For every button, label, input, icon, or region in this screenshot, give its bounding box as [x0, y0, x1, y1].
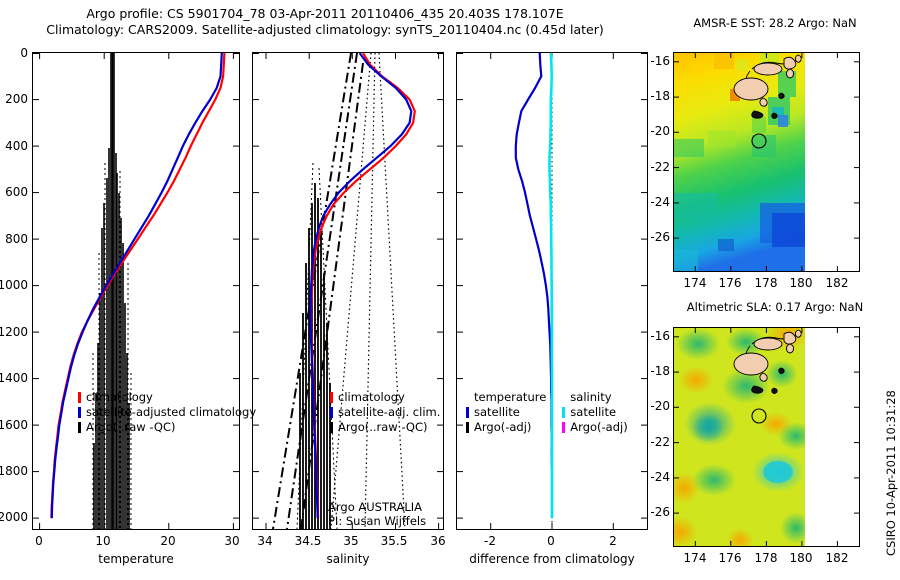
legend-label-climatology: climatology [86, 390, 153, 405]
salinity-plot-area [253, 53, 443, 529]
temperature-panel[interactable] [32, 52, 240, 530]
sla-map-xtick-174: 174 [675, 551, 715, 565]
legend-swatch-climatology [78, 392, 81, 403]
temperature-ytick-400: 400 [0, 139, 28, 153]
legend-item-argo-raw: Argo(..raw -QC) [78, 420, 256, 435]
salinity-xtick-34: 34 [245, 534, 285, 548]
salinity-xtick-35: 35 [331, 534, 371, 548]
temperature-ytick-200: 200 [0, 92, 28, 106]
salinity-panel[interactable] [252, 52, 444, 530]
sst-map-xtick-176: 176 [710, 276, 750, 290]
difference-legend-temperature-group: temperature satellite Argo(-adj) [466, 390, 546, 435]
legend-label-temperature: temperature [474, 390, 546, 405]
temperature-ytick-1600: 1600 [0, 418, 28, 432]
legend-item-salinity-satellite-adj: satellite-adj. clim. [330, 405, 440, 420]
salinity-difference-curve [550, 53, 553, 518]
salinity-xtick-34-5: 34.5 [288, 534, 328, 548]
legend-swatch-salinity-argo-adj [562, 422, 565, 433]
legend-label-satellite-adjusted: satellite-adjusted climatology [86, 405, 256, 420]
difference-plot-area [457, 53, 647, 529]
sst-map-title: AMSR-E SST: 28.2 Argo: NaN [665, 16, 885, 30]
figure-title-line1: Argo profile: CS 5901704_78 03-Apr-2011 … [0, 6, 650, 22]
legend-label-salinity-climatology: climatology [338, 390, 405, 405]
sla-map-title: Altimetric SLA: 0.17 Argo: NaN [665, 300, 885, 314]
difference-legend: temperature satellite Argo(-adj) salinit… [466, 390, 644, 435]
sla-map-xtick-182: 182 [817, 551, 857, 565]
legend-swatch-temperature-satellite [466, 407, 469, 418]
difference-xtick-2: 2 [593, 534, 633, 548]
temperature-ytick-1400: 1400 [0, 371, 28, 385]
salinity-axis-label: salinity [278, 552, 418, 566]
temperature-xtick-0: 0 [19, 534, 59, 548]
legend-swatch-salinity-climatology [330, 392, 333, 403]
sst-map-xtick-174: 174 [675, 276, 715, 290]
sla-map-plot-area [674, 328, 859, 546]
sla-map-ytick--26: -26 [638, 505, 670, 519]
temperature-ytick-1000: 1000 [0, 278, 28, 292]
legend-item-satellite-adjusted: satellite-adjusted climatology [78, 405, 256, 420]
temperature-axis-label: temperature [66, 552, 206, 566]
sla-map-xtick-180: 180 [781, 551, 821, 565]
temperature-legend: climatology satellite-adjusted climatolo… [78, 390, 256, 435]
sla-map-xtick-176: 176 [710, 551, 750, 565]
legend-header-temperature: temperature [466, 390, 546, 405]
csiro-timestamp: CSIRO 10-Apr-2011 10:31:28 [884, 390, 898, 556]
sst-map-xtick-182: 182 [817, 276, 857, 290]
sst-map-xtick-180: 180 [781, 276, 821, 290]
provider-line2: PI: Susan Wijffels [328, 514, 426, 528]
legend-header-salinity: salinity [562, 390, 627, 405]
sst-map-ytick--22: -22 [638, 160, 670, 174]
figure-title: Argo profile: CS 5901704_78 03-Apr-2011 … [0, 6, 650, 38]
sst-map-ytick--26: -26 [638, 230, 670, 244]
legend-item-salinity-satellite: satellite [562, 405, 627, 420]
legend-label-salinity-satellite-adj: satellite-adj. clim. [338, 405, 440, 420]
legend-label-temperature-satellite: satellite [474, 405, 520, 420]
provider-line1: Argo AUSTRALIA [328, 500, 426, 514]
sst-map-ytick--24: -24 [638, 195, 670, 209]
sst-map-panel[interactable] [673, 52, 860, 272]
sst-map-xtick-178: 178 [746, 276, 786, 290]
temperature-ytick-800: 800 [0, 232, 28, 246]
temperature-plot-area [33, 53, 239, 529]
legend-label-argo-raw: Argo(..raw -QC) [86, 420, 176, 435]
sla-map-panel[interactable] [673, 327, 860, 547]
difference-axis-label: difference from climatology [462, 552, 642, 566]
sla-map-ytick--18: -18 [638, 364, 670, 378]
temperature-ytick-600: 600 [0, 185, 28, 199]
temperature-ytick-1800: 1800 [0, 464, 28, 478]
temperature-ytick-2000: 2000 [0, 510, 28, 524]
salinity-xtick-36: 36 [418, 534, 458, 548]
legend-swatch-salinity-satellite-adj [330, 407, 333, 418]
temperature-climatology-curve [51, 53, 224, 518]
legend-swatch-argo-raw [78, 422, 81, 433]
legend-item-temperature-satellite: satellite [466, 405, 546, 420]
legend-swatch-salinity-satellite [562, 407, 565, 418]
sst-map-ytick--20: -20 [638, 124, 670, 138]
salinity-satellite-adjusted-curve [311, 53, 412, 518]
legend-label-salinity: salinity [570, 390, 611, 405]
temperature-difference-curve [516, 53, 552, 518]
argo-raw-qc-salinity-traces [273, 53, 405, 529]
difference-xtick-0: 0 [531, 534, 571, 548]
temperature-ytick-1200: 1200 [0, 325, 28, 339]
difference-xtick-neg2: -2 [470, 534, 510, 548]
temperature-xtick-20: 20 [148, 534, 188, 548]
salinity-xtick-35-5: 35.5 [374, 534, 414, 548]
sla-map-ytick--24: -24 [638, 470, 670, 484]
sla-map-xtick-178: 178 [746, 551, 786, 565]
provider-annotation: Argo AUSTRALIA PI: Susan Wijffels [328, 500, 426, 528]
argo-raw-qc-temperature-marks [93, 53, 131, 529]
difference-legend-salinity-group: salinity satellite Argo(-adj) [562, 390, 627, 435]
temperature-xtick-10: 10 [83, 534, 123, 548]
legend-item-salinity-argo-raw: Argo(..raw -QC) [330, 420, 440, 435]
sst-map-plot-area [674, 53, 859, 271]
legend-label-temperature-argo-adj: Argo(-adj) [474, 420, 531, 435]
legend-item-temperature-argo-adj: Argo(-adj) [466, 420, 546, 435]
legend-item-salinity-argo-adj: Argo(-adj) [562, 420, 627, 435]
legend-label-salinity-argo-adj: Argo(-adj) [570, 420, 627, 435]
temperature-satellite-adjusted-curve [52, 53, 222, 518]
legend-item-climatology: climatology [78, 390, 256, 405]
legend-swatch-satellite-adjusted [78, 407, 81, 418]
sla-map-ytick--16: -16 [638, 329, 670, 343]
legend-label-salinity-satellite: satellite [570, 405, 616, 420]
figure-title-line2: Climatology: CARS2009. Satellite-adjuste… [0, 22, 650, 38]
legend-item-salinity-climatology: climatology [330, 390, 440, 405]
temperature-ytick-0: 0 [0, 46, 28, 60]
legend-label-salinity-argo-raw: Argo(..raw -QC) [338, 420, 428, 435]
legend-swatch-temperature-argo-adj [466, 422, 469, 433]
sst-map-ytick--16: -16 [638, 54, 670, 68]
difference-panel[interactable] [456, 52, 648, 530]
salinity-legend: climatology satellite-adj. clim. Argo(..… [330, 390, 440, 435]
sla-map-ytick--22: -22 [638, 435, 670, 449]
legend-swatch-salinity-argo-raw [330, 422, 333, 433]
sst-map-ytick--18: -18 [638, 89, 670, 103]
